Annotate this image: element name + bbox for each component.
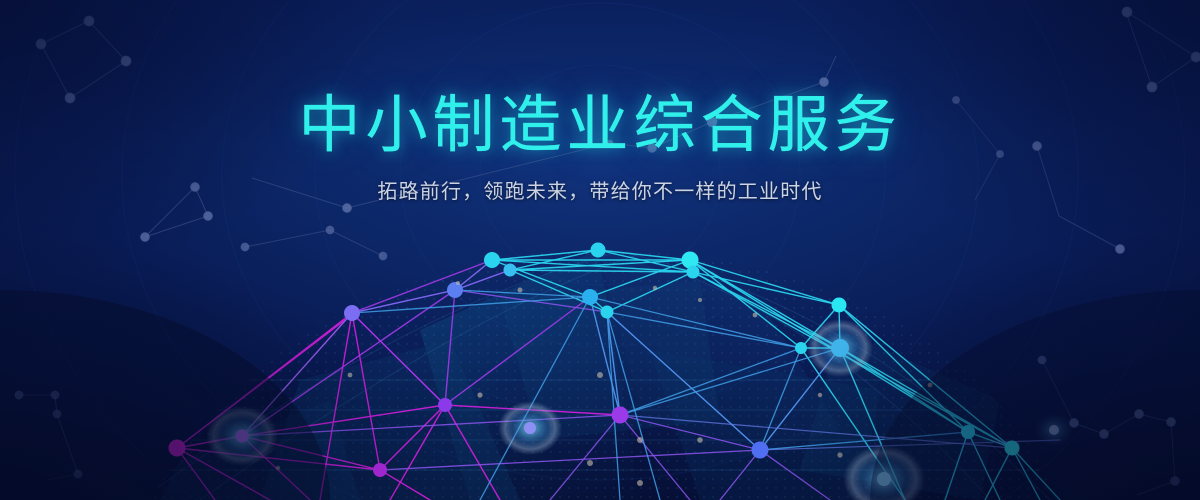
background-corner-vignette xyxy=(0,0,1200,500)
banner-text-block: 中小制造业综合服务 拓路前行，领跑未来，带给你不一样的工业时代 xyxy=(0,92,1200,204)
banner-subtitle: 拓路前行，领跑未来，带给你不一样的工业时代 xyxy=(0,175,1200,204)
banner-title: 中小制造业综合服务 xyxy=(0,92,1200,157)
hero-banner: 中小制造业综合服务 拓路前行，领跑未来，带给你不一样的工业时代 xyxy=(0,0,1200,500)
